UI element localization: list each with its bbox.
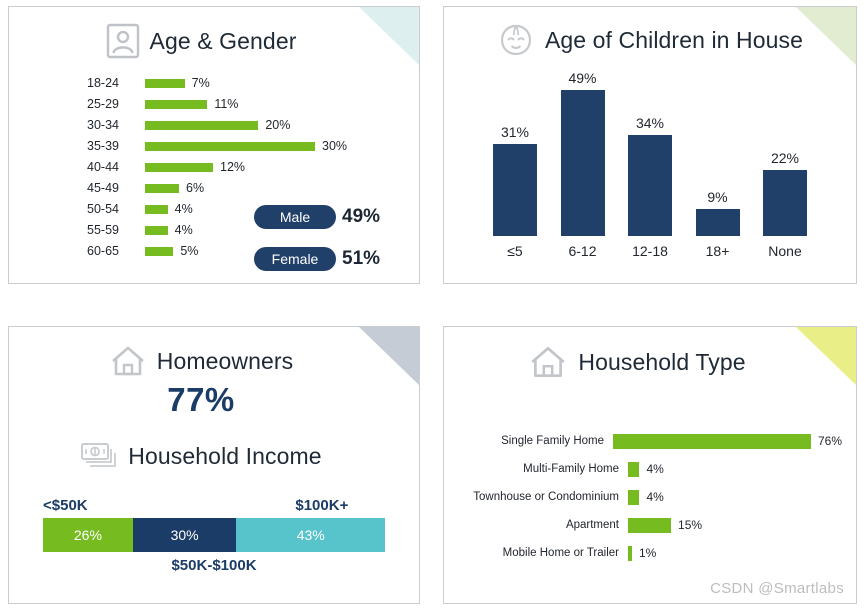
age-value-label: 5% [180, 244, 198, 258]
income-segment: 30% [133, 518, 237, 552]
children-category-label: 12-18 [632, 243, 668, 259]
house-icon [528, 343, 568, 381]
household-income-header: Household Income [9, 441, 419, 471]
gender-value-male: 49% [342, 206, 380, 228]
gender-row-female: Female 51% [254, 247, 414, 271]
age-category-label: 50-54 [87, 202, 139, 216]
children-bar [628, 135, 672, 236]
age-bar [145, 79, 185, 88]
children-bar-column: 49%6-12 [554, 69, 612, 259]
age-bar-row: 40-4412% [87, 157, 419, 177]
children-category-label: 18+ [706, 243, 730, 259]
age-bar-row: 35-3930% [87, 136, 419, 156]
panel-household-type-title: Household Type [578, 349, 745, 376]
children-bar [561, 90, 605, 236]
age-value-label: 12% [220, 160, 245, 174]
panel-age-of-children-title: Age of Children in House [545, 27, 803, 54]
infographic-dashboard: Age & Gender 18-247%25-2911%30-3420%35-3… [0, 0, 865, 611]
children-bar [493, 144, 537, 236]
age-bar-row: 25-2911% [87, 94, 419, 114]
panel-homeowners-title: Homeowners [157, 348, 294, 375]
household-type-value-label: 15% [678, 518, 702, 532]
age-value-label: 20% [265, 118, 290, 132]
panel-age-of-children-header: Age of Children in House [444, 23, 856, 57]
household-type-row: Single Family Home76% [456, 427, 842, 455]
age-value-label: 7% [192, 76, 210, 90]
household-type-row: Mobile Home or Trailer1% [456, 539, 842, 567]
age-value-label: 6% [186, 181, 204, 195]
house-icon [109, 343, 147, 379]
age-bar [145, 142, 315, 151]
gender-split-group: Male 49% Female 51% [254, 205, 414, 284]
person-portrait-icon [106, 23, 140, 59]
panel-age-of-children: Age of Children in House 31%≤549%6-1234%… [443, 6, 857, 284]
gender-row-male: Male 49% [254, 205, 414, 229]
household-type-bar [628, 518, 671, 533]
household-type-category-label: Apartment [456, 519, 628, 531]
household-type-row: Apartment15% [456, 511, 842, 539]
household-type-value-label: 76% [818, 434, 842, 448]
household-type-bar [628, 462, 639, 477]
household-income-chart: <$50K $100K+ 26%30%43% $50K-$100K [43, 497, 385, 574]
income-bottom-labels: $50K-$100K [43, 557, 385, 574]
children-category-label: ≤5 [507, 243, 522, 259]
children-category-label: None [768, 243, 801, 259]
children-value-label: 31% [501, 124, 529, 140]
household-type-value-label: 4% [646, 490, 663, 504]
panel-age-gender-header: Age & Gender [9, 23, 419, 59]
age-category-label: 18-24 [87, 76, 139, 90]
age-value-label: 4% [175, 202, 193, 216]
age-bar [145, 247, 173, 256]
household-type-category-label: Townhouse or Condominium [456, 491, 628, 503]
age-category-label: 60-65 [87, 244, 139, 258]
children-bar-column: 34%12-18 [621, 69, 679, 259]
household-type-category-label: Multi-Family Home [456, 463, 628, 475]
age-bar-row: 18-247% [87, 73, 419, 93]
children-bar-column: 22%None [756, 69, 814, 259]
age-bar [145, 100, 207, 109]
watermark-label: CSDN @Smartlabs [710, 580, 844, 597]
children-bar [696, 209, 740, 236]
income-label-mid: $50K-$100K [171, 557, 256, 574]
income-label-high: $100K+ [133, 497, 385, 514]
children-category-label: 6-12 [568, 243, 596, 259]
income-segment: 43% [236, 518, 385, 552]
gender-pill-female[interactable]: Female [254, 247, 336, 271]
age-bar-row: 30-3420% [87, 115, 419, 135]
household-type-bar [628, 490, 639, 505]
children-value-label: 34% [636, 115, 664, 131]
gender-pill-male[interactable]: Male [254, 205, 336, 229]
age-bar [145, 205, 168, 214]
age-bar [145, 184, 179, 193]
panel-age-gender: Age & Gender 18-247%25-2911%30-3420%35-3… [8, 6, 420, 284]
income-segment: 26% [43, 518, 133, 552]
age-value-label: 11% [214, 97, 238, 111]
age-bar [145, 163, 213, 172]
household-type-value-label: 1% [639, 546, 656, 560]
children-value-label: 22% [771, 150, 799, 166]
age-category-label: 45-49 [87, 181, 139, 195]
homeowners-percent-value: 77% [9, 381, 419, 419]
age-value-label: 30% [322, 139, 347, 153]
children-bar [763, 170, 807, 236]
household-type-bar [628, 546, 632, 561]
household-type-bar-chart: Single Family Home76%Multi-Family Home4%… [456, 427, 842, 567]
household-type-bar [613, 434, 811, 449]
household-type-value-label: 4% [646, 462, 663, 476]
panel-homeowners-header: Homeowners [9, 343, 419, 379]
age-category-label: 30-34 [87, 118, 139, 132]
children-bar-column: 31%≤5 [486, 69, 544, 259]
age-bar [145, 121, 258, 130]
age-category-label: 40-44 [87, 160, 139, 174]
children-age-column-chart: 31%≤549%6-1234%12-189%18+22%None [444, 69, 856, 259]
income-label-low: <$50K [43, 497, 133, 514]
age-category-label: 35-39 [87, 139, 139, 153]
panel-household-type-header: Household Type [444, 343, 856, 381]
children-value-label: 9% [707, 189, 727, 205]
children-bar-column: 9%18+ [689, 69, 747, 259]
children-value-label: 49% [568, 70, 596, 86]
age-category-label: 55-59 [87, 223, 139, 237]
age-bar-row: 45-496% [87, 178, 419, 198]
household-type-category-label: Mobile Home or Trailer [456, 547, 628, 559]
panel-household-type: Household Type Single Family Home76%Mult… [443, 326, 857, 604]
household-income-title: Household Income [128, 443, 321, 470]
gender-value-female: 51% [342, 248, 380, 270]
panel-age-gender-title: Age & Gender [150, 28, 297, 55]
income-stacked-bar: 26%30%43% [43, 518, 385, 552]
household-type-row: Townhouse or Condominium4% [456, 483, 842, 511]
household-type-row: Multi-Family Home4% [456, 455, 842, 483]
income-top-labels: <$50K $100K+ [43, 497, 385, 514]
age-value-label: 4% [175, 223, 193, 237]
household-type-category-label: Single Family Home [456, 435, 613, 447]
money-bill-icon [80, 441, 118, 471]
baby-face-icon [497, 23, 535, 57]
panel-homeowners-income: Homeowners 77% Household Income <$50K [8, 326, 420, 604]
age-bar [145, 226, 168, 235]
age-category-label: 25-29 [87, 97, 139, 111]
